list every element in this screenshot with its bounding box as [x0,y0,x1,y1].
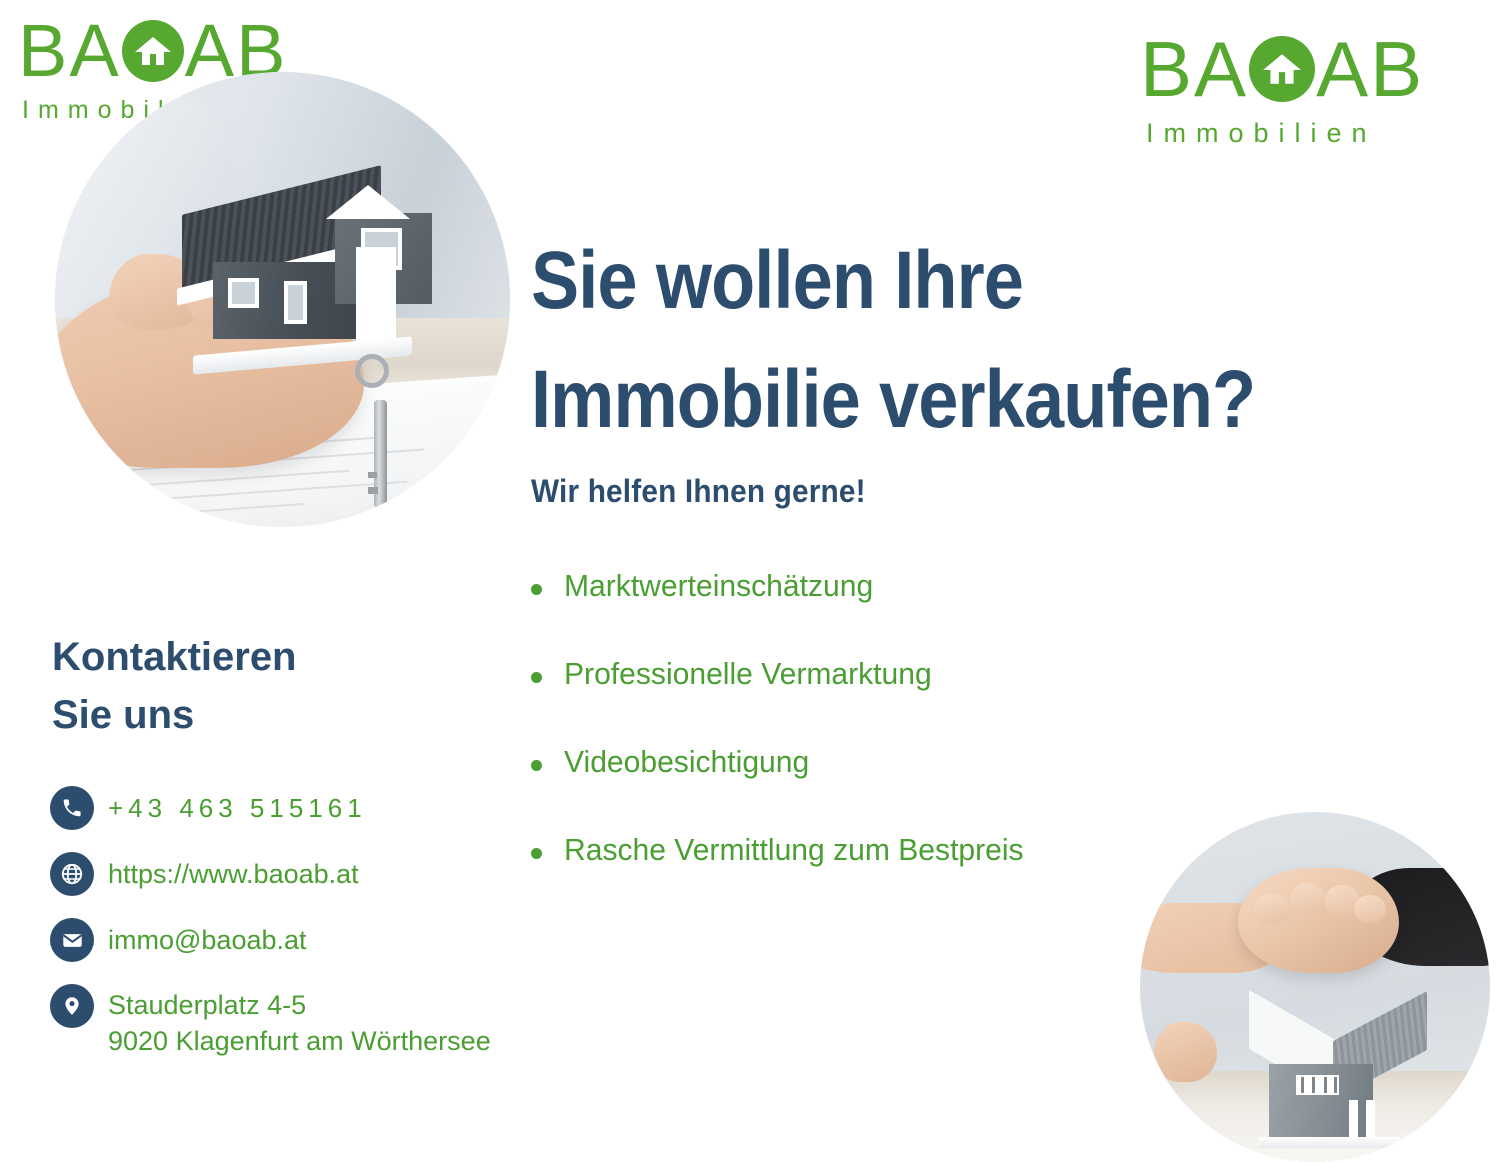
bullet-dot-icon [531,672,542,683]
service-label: Professionelle Vermarktung [564,658,932,689]
service-label: Marktwerteinschätzung [564,570,873,601]
logo-top-right: BA AB Immobilien [1140,30,1424,147]
headline-line-1: Sie wollen Ihre [531,222,1341,341]
contact-heading: Kontaktieren Sie uns [52,628,452,744]
envelope-icon [50,918,94,962]
address-street: Stauderplatz 4-5 [108,987,491,1023]
website-value: https://www.baoab.at [108,852,359,896]
logo-wordmark: BA AB [1140,30,1424,108]
house-icon [1249,36,1315,102]
phone-value: +43 463 515161 [108,786,367,830]
headline-subtitle: Wir helfen Ihnen gerne! [531,473,866,510]
address-city: 9020 Klagenfurt am Wörthersee [108,1023,491,1059]
bullet-dot-icon [531,584,542,595]
email-value: immo@baoab.at [108,918,307,962]
contact-row-email[interactable]: immo@baoab.at [50,918,610,962]
service-label: Rasche Vermittlung zum Bestpreis [564,834,1024,865]
list-item: Rasche Vermittlung zum Bestpreis [531,834,1311,922]
contact-heading-line-2: Sie uns [52,686,452,744]
headline-line-2: Immobilie verkaufen? [531,341,1341,460]
list-item: Marktwerteinschätzung [531,570,1311,658]
services-list: Marktwerteinschätzung Professionelle Ver… [531,570,1311,922]
bullet-dot-icon [531,760,542,771]
contact-heading-line-1: Kontaktieren [52,628,452,686]
contact-details: +43 463 515161 https://www.baoab.at immo… [50,786,610,1082]
contact-row-phone[interactable]: +43 463 515161 [50,786,610,830]
logo-tagline: Immobilien [1146,120,1377,147]
contact-row-website[interactable]: https://www.baoab.at [50,852,610,896]
service-label: Videobesichtigung [564,746,809,777]
logo-letters-left: BA [1140,30,1248,108]
list-item: Professionelle Vermarktung [531,658,1311,746]
phone-icon [50,786,94,830]
list-item: Videobesichtigung [531,746,1311,834]
address-value: Stauderplatz 4-5 9020 Klagenfurt am Wört… [108,984,491,1060]
globe-icon [50,852,94,896]
photo-hand-holding-model-house [55,72,510,527]
page-title: Sie wollen Ihre Immobilie verkaufen? [531,222,1341,460]
location-pin-icon [50,984,94,1028]
logo-letters-right: AB [1316,30,1424,108]
contact-row-address[interactable]: Stauderplatz 4-5 9020 Klagenfurt am Wört… [50,984,610,1060]
